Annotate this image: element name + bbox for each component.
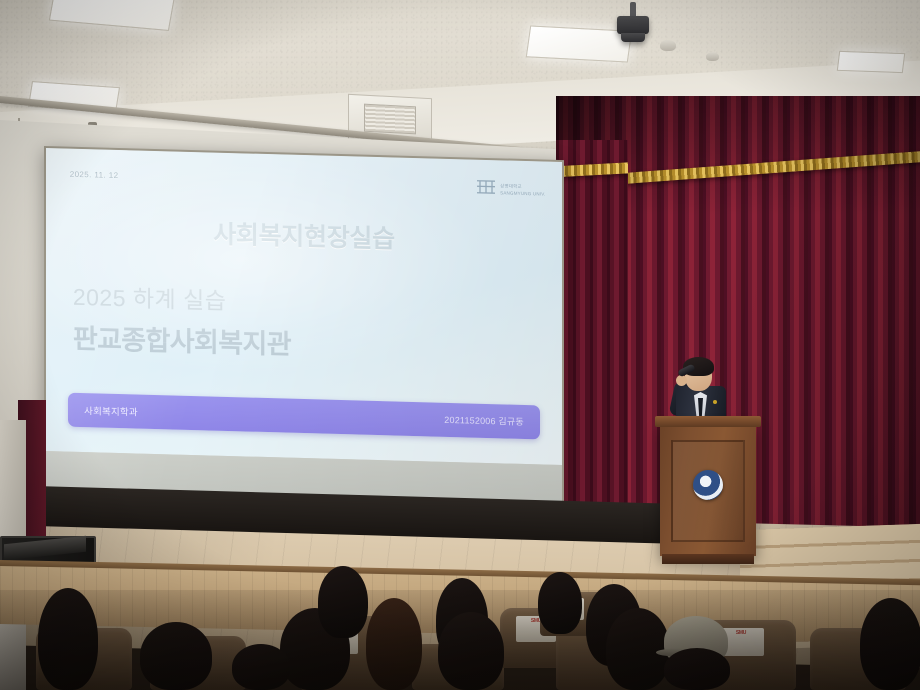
university-logo: 상명대학교 SANGMYUNG UNIV.: [475, 178, 545, 198]
ceiling-projector: [617, 16, 649, 34]
presenter-hand: [676, 375, 687, 386]
recessed-panel-light: [837, 51, 905, 73]
auditorium-photo: 2025. 11. 12 상명대학교: [0, 0, 920, 690]
wooden-podium: [660, 424, 756, 556]
slide-date: 2025. 11. 12: [70, 170, 119, 180]
presenter-lapel-badge: [713, 400, 717, 404]
podium-top-surface: [655, 416, 761, 427]
slide-footer-bar: 사회복지학과 2021152006 김규동: [68, 392, 541, 439]
university-logo-caption: 상명대학교 SANGMYUNG UNIV.: [500, 183, 545, 197]
projection-screen: 2025. 11. 12 상명대학교: [44, 146, 564, 508]
curtain-fabric: [556, 140, 628, 540]
vent-grille: [364, 104, 417, 135]
university-seal-emblem: [693, 470, 723, 500]
ceiling-speaker: [660, 40, 676, 51]
stage-curtain-left-wing: [556, 140, 628, 540]
slide-title: 사회복지현장실습: [46, 210, 562, 260]
slide-footer-department: 사회복지학과: [84, 403, 138, 418]
slide-footer-presenter: 2021152006 김규동: [444, 413, 524, 428]
projector-lens-housing: [621, 33, 645, 42]
presentation-slide: 2025. 11. 12 상명대학교: [46, 148, 562, 465]
slide-subtitle-line1: 2025 하계 실습: [73, 277, 227, 315]
audience-foreground-shadow: [0, 590, 920, 690]
university-logo-mark: [475, 178, 497, 197]
screen-surface: 2025. 11. 12 상명대학교: [46, 148, 562, 506]
ceiling-speaker: [706, 52, 719, 61]
slide-subtitle-line2: 판교종합사회복지관: [73, 317, 291, 362]
podium-base: [662, 554, 754, 564]
logo-caption-line2: SANGMYUNG UNIV.: [500, 190, 545, 198]
